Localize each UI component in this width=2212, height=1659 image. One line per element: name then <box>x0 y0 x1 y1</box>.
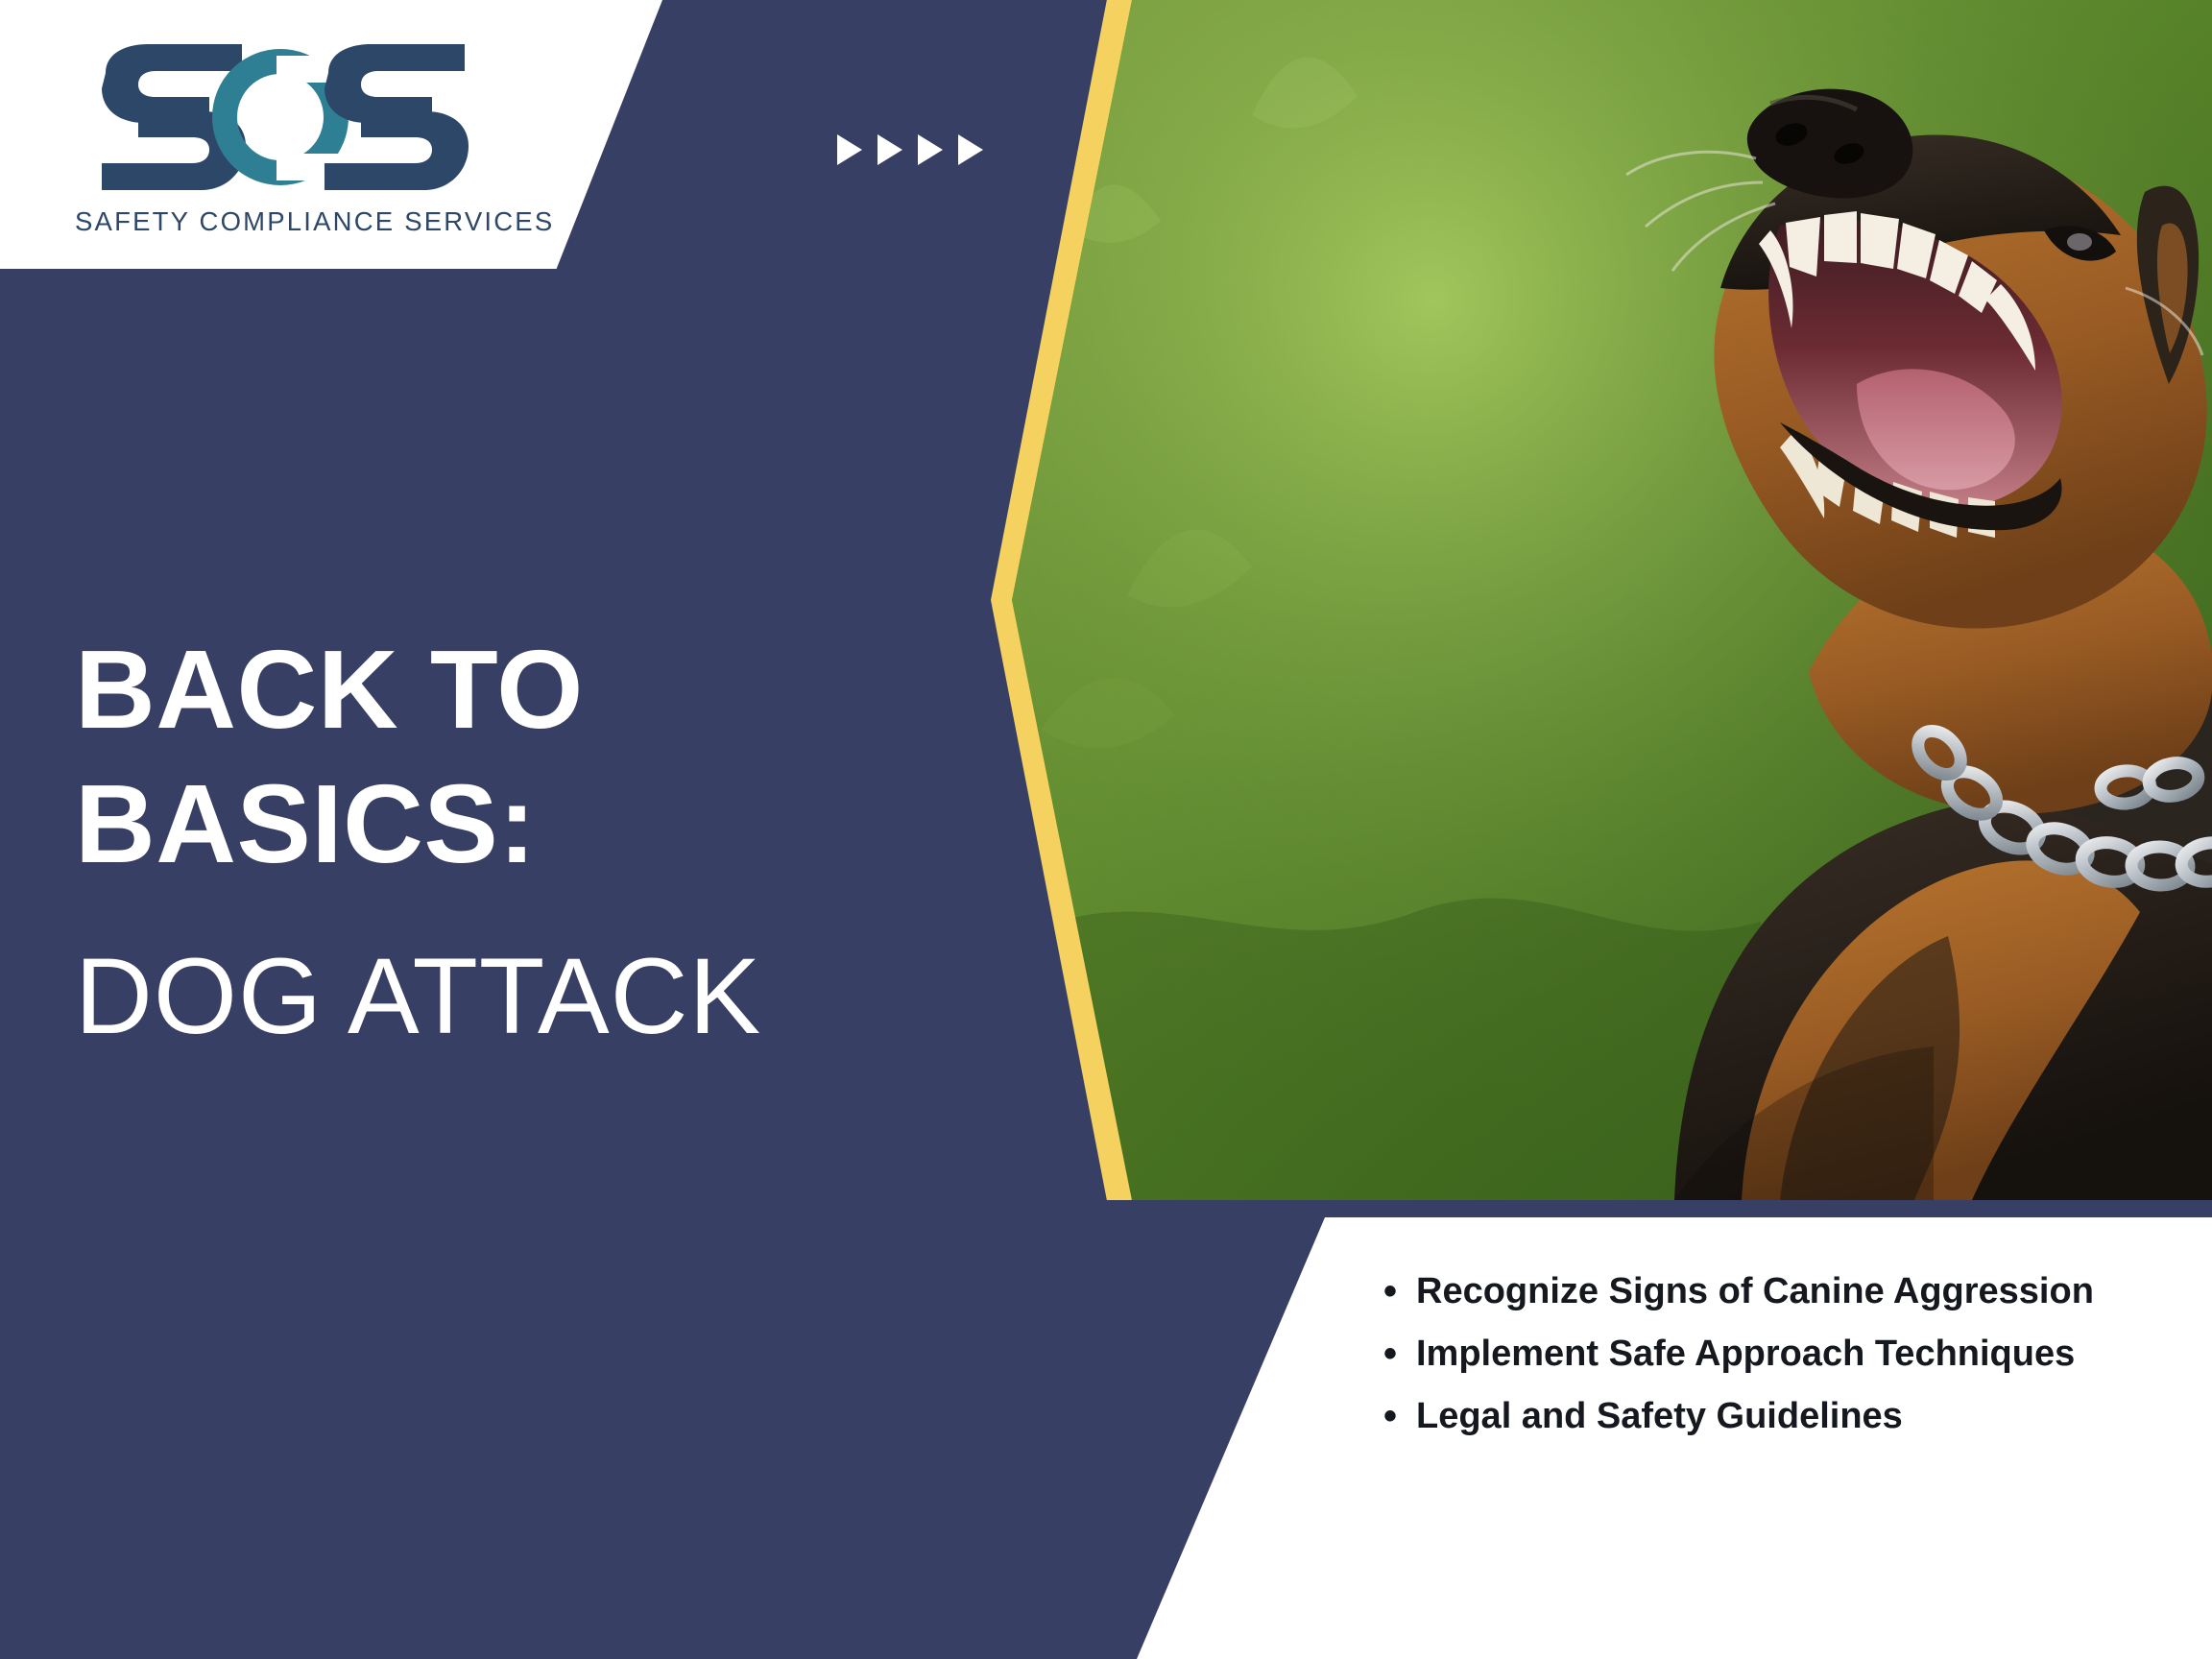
list-item: Implement Safe Approach Techniques <box>1382 1326 2178 1382</box>
dog-photo-illustration <box>1012 0 2212 1200</box>
page-title: BACK TO BASICS: DOG ATTACK <box>75 634 1035 1050</box>
logo-svg <box>88 38 472 197</box>
headline-line-1: BACK TO <box>75 634 1035 745</box>
arrow-decoration <box>837 134 983 165</box>
triangle-right-icon <box>878 134 902 165</box>
dog-photo-image <box>1012 0 2212 1200</box>
bullet-list: Recognize Signs of Canine Aggression Imp… <box>1382 1263 2178 1451</box>
triangle-right-icon <box>918 134 943 165</box>
list-item: Legal and Safety Guidelines <box>1382 1388 2178 1445</box>
poster-canvas: SAFETY COMPLIANCE SERVICES BACK TO BASIC… <box>0 0 2212 1659</box>
dog-photo <box>1012 0 2212 1200</box>
logo-badge: SAFETY COMPLIANCE SERVICES <box>0 0 662 269</box>
triangle-right-icon <box>837 134 862 165</box>
headline-line-3: DOG ATTACK <box>75 943 1035 1050</box>
logo-wordmark: SAFETY COMPLIANCE SERVICES <box>75 206 478 237</box>
bullets-panel: Recognize Signs of Canine Aggression Imp… <box>1137 1217 2212 1659</box>
triangle-right-icon <box>958 134 983 165</box>
list-item: Recognize Signs of Canine Aggression <box>1382 1263 2178 1320</box>
scs-monogram-logo <box>88 38 472 197</box>
headline-line-2: BASICS: <box>75 768 1035 879</box>
